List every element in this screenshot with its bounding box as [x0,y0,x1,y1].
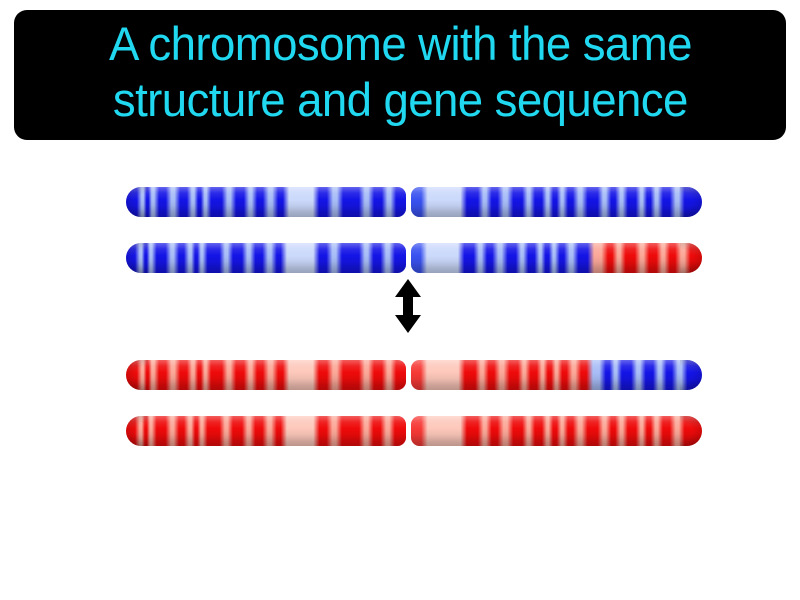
chromosome-2 [126,243,702,273]
title-line-2: structure and gene sequence [113,72,688,128]
band-group [126,360,406,390]
chromosome-2-left-arm [126,243,406,273]
chromosome-3 [126,360,702,390]
double-headed-vertical-arrow-icon [390,278,426,334]
chromosome-diagram [0,150,800,480]
band-group [411,416,702,446]
chromosome-3-left-arm [126,360,406,390]
band-group [126,187,406,217]
chromosome-4-left-arm [126,416,406,446]
title-line-1: A chromosome with the same [109,16,692,72]
chromosome-1-left-arm [126,187,406,217]
chromosome-2-right-arm [411,243,702,273]
definition-card: A chromosome with the same structure and… [0,0,800,600]
chromosome-1 [126,187,702,217]
chromosome-3-right-arm [411,360,702,390]
band-group [411,243,702,273]
band-group [126,416,406,446]
chromosome-4-right-arm [411,416,702,446]
title-banner: A chromosome with the same structure and… [14,10,786,140]
chromosome-4 [126,416,702,446]
chromosome-1-right-arm [411,187,702,217]
band-group [411,187,702,217]
band-group [126,243,406,273]
band-group [411,360,702,390]
